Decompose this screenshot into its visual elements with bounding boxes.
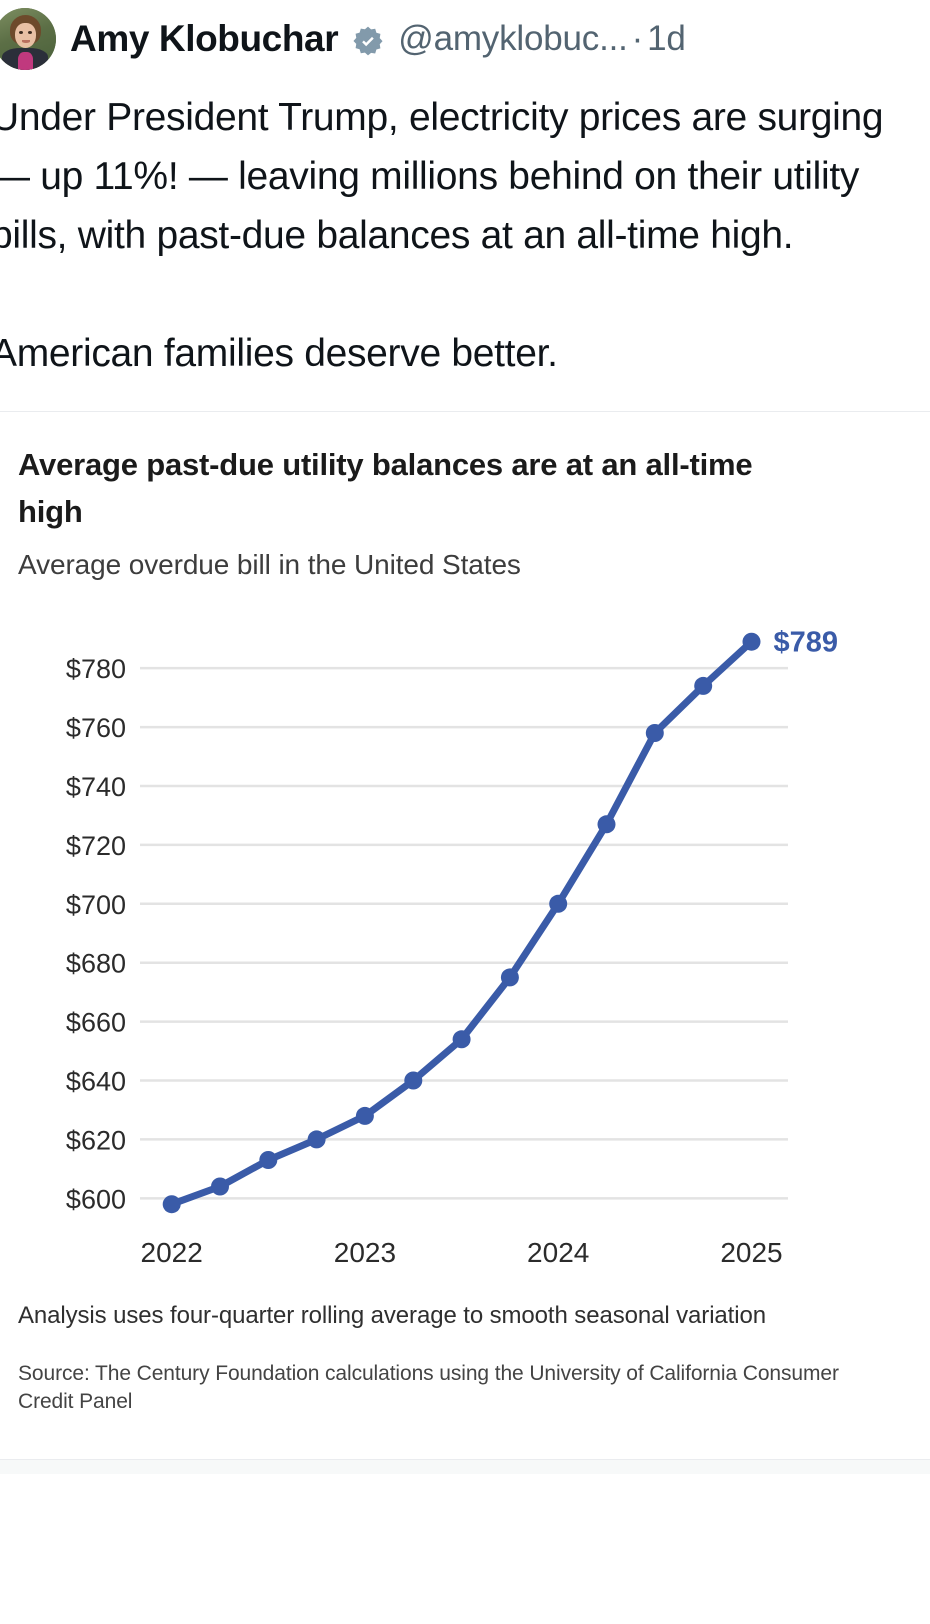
data-point — [404, 1071, 422, 1089]
chart-title: Average past-due utility balances are at… — [18, 442, 808, 535]
display-name[interactable]: Amy Klobuchar — [70, 18, 338, 60]
data-point — [211, 1177, 229, 1195]
y-axis-tick-label: $600 — [66, 1184, 126, 1214]
y-axis-tick-label: $640 — [66, 1066, 126, 1096]
y-axis-tick-label: $780 — [66, 654, 126, 684]
y-axis-tick-label: $740 — [66, 772, 126, 802]
data-point — [646, 724, 664, 742]
avatar-eye-left — [19, 31, 23, 34]
timestamp: 1d — [647, 19, 686, 58]
y-axis-tick-labels: $780$760$740$720$700$680$660$640$620$600 — [66, 654, 126, 1214]
y-axis-tick-label: $660 — [66, 1007, 126, 1037]
x-axis-tick-label: 2024 — [527, 1237, 589, 1268]
data-point — [694, 676, 712, 694]
line-chart: $780$760$740$720$700$680$660$640$620$600… — [14, 594, 912, 1294]
data-point — [501, 968, 519, 986]
data-point — [549, 894, 567, 912]
tweet-card: Amy Klobuchar @amyklobuc...·1d Under Pre… — [0, 0, 930, 1474]
chart-footnote: Analysis uses four-quarter rolling avera… — [18, 1300, 818, 1332]
y-axis-tick-label: $720 — [66, 830, 126, 860]
end-value-label: $789 — [773, 626, 838, 658]
tweet-header: Amy Klobuchar @amyklobuc...·1d — [0, 0, 930, 78]
avatar-eye-right — [28, 31, 32, 34]
avatar-face — [15, 23, 36, 48]
avatar-mouth — [22, 40, 30, 43]
data-point — [356, 1106, 374, 1124]
chart-subtitle: Average overdue bill in the United State… — [18, 545, 914, 586]
verified-badge-icon[interactable] — [352, 25, 384, 57]
chart-card[interactable]: Average past-due utility balances are at… — [0, 411, 930, 1460]
y-axis-tick-label: $620 — [66, 1125, 126, 1155]
x-axis-tick-label: 2022 — [141, 1237, 203, 1268]
meta-separator: · — [628, 19, 647, 58]
tweet-body-text: Under President Trump, electricity price… — [0, 78, 930, 401]
x-axis-tick-labels: 2022202320242025 — [141, 1237, 783, 1268]
data-point — [163, 1195, 181, 1213]
card-footer-spacer — [0, 1423, 930, 1441]
data-point — [453, 1030, 471, 1048]
bottom-strip — [0, 1460, 930, 1474]
gridlines — [140, 668, 788, 1198]
chart-svg: $780$760$740$720$700$680$660$640$620$600… — [14, 594, 912, 1294]
x-axis-tick-label: 2025 — [720, 1237, 782, 1268]
data-point — [308, 1130, 326, 1148]
x-axis-tick-label: 2023 — [334, 1237, 396, 1268]
user-handle: @amyklobuc... — [398, 19, 627, 58]
y-axis-tick-label: $760 — [66, 713, 126, 743]
data-point — [259, 1151, 277, 1169]
avatar-shirt — [18, 52, 33, 70]
avatar[interactable] — [0, 8, 56, 70]
y-axis-tick-label: $700 — [66, 889, 126, 919]
chart-source: Source: The Century Foundation calculati… — [18, 1360, 868, 1417]
data-point — [743, 632, 761, 650]
data-point — [598, 815, 616, 833]
y-axis-tick-label: $680 — [66, 948, 126, 978]
handle-and-timestamp[interactable]: @amyklobuc...·1d — [398, 19, 685, 59]
